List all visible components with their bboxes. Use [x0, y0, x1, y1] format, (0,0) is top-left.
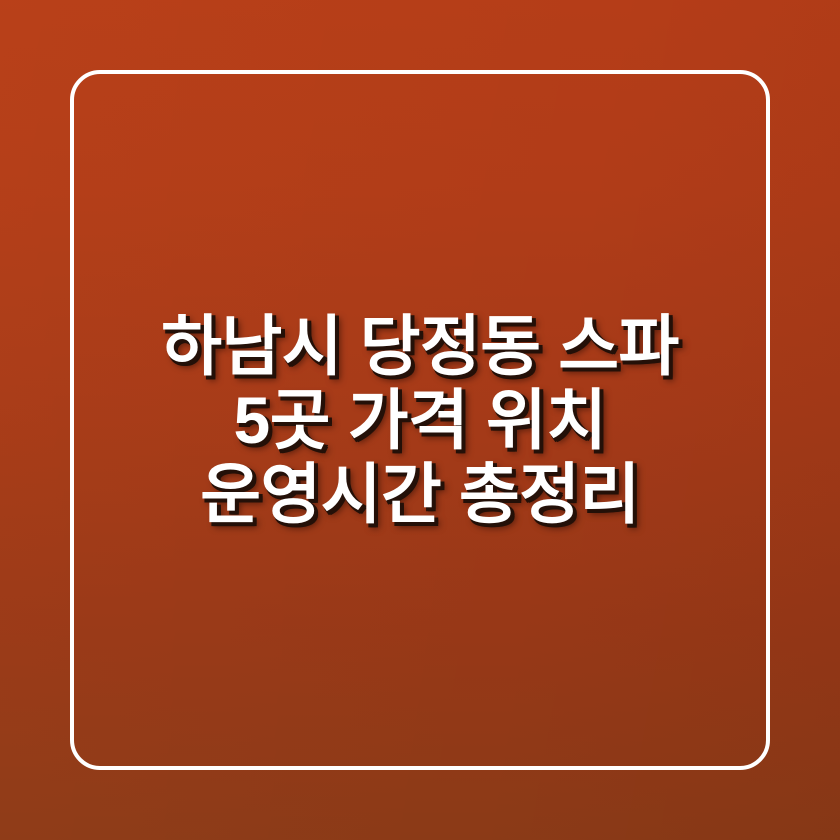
title-block: 하남시 당정동 스파 5곳 가격 위치 운영시간 총정리 [0, 0, 840, 840]
thumbnail-card: 하남시 당정동 스파 5곳 가격 위치 운영시간 총정리 [0, 0, 840, 840]
title-line-2: 5곳 가격 위치 [90, 383, 750, 457]
title-line-3: 운영시간 총정리 [90, 457, 750, 531]
title-line-1: 하남시 당정동 스파 [90, 309, 750, 383]
